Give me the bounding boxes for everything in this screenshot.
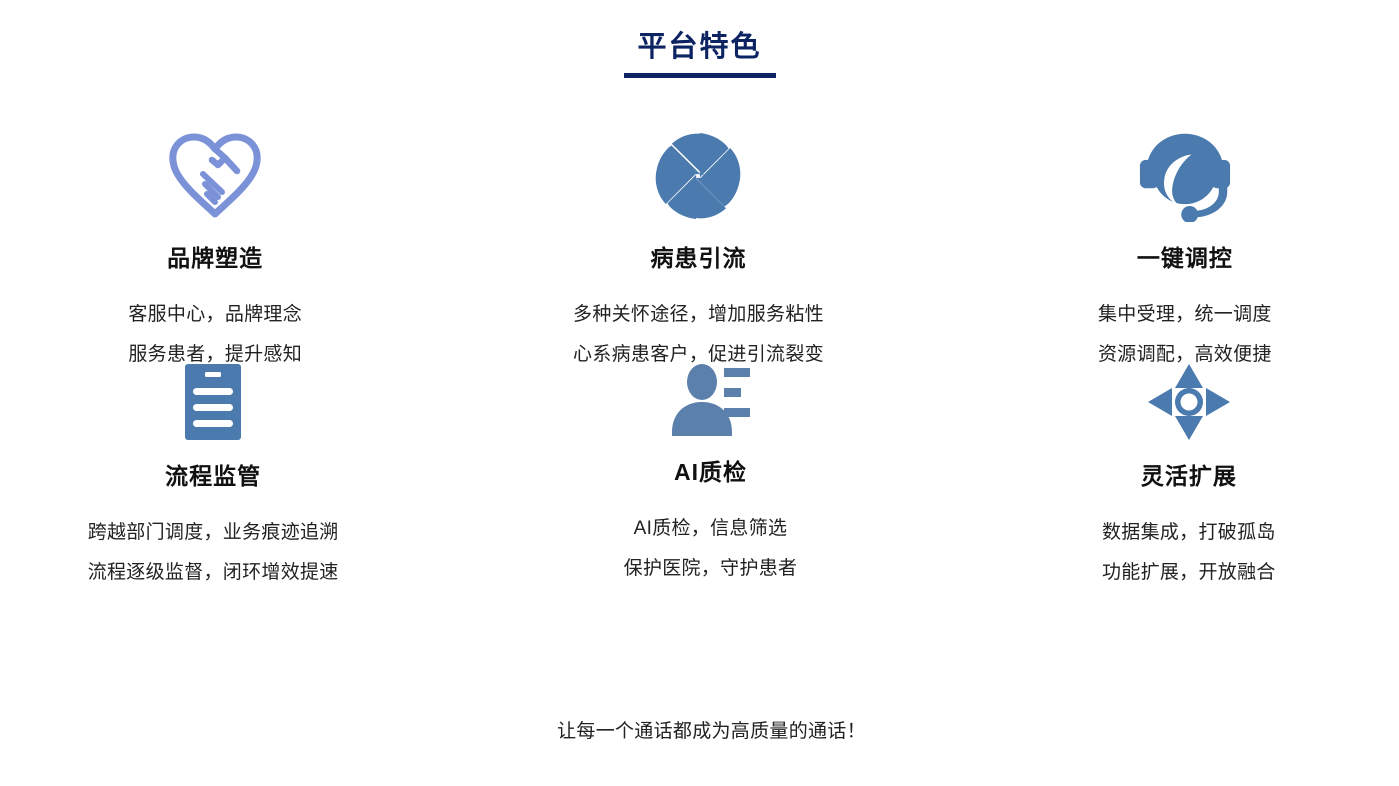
feature-description: AI质检，信息筛选 保护医院，守护患者: [624, 509, 798, 589]
page-title: 平台特色: [637, 30, 761, 65]
feature-desc-line-1: 集中受理，统一调度: [1098, 295, 1272, 335]
feature-card-flexible-expansion[interactable]: 灵活扩展 数据集成，打破孤岛 功能扩展，开放融合: [956, 362, 1399, 587]
feature-desc-line-1: 数据集成，打破孤岛: [1102, 513, 1276, 553]
feature-grid: 品牌塑造 客服中心，品牌理念 服务患者，提升感知: [0, 130, 1399, 587]
feature-desc-line-1: 跨越部门调度，业务痕迹追溯: [88, 513, 339, 553]
feature-description: 数据集成，打破孤岛 功能扩展，开放融合: [1102, 513, 1276, 593]
feature-desc-line-1: 多种关怀途径，增加服务粘性: [573, 295, 824, 335]
feature-title: AI质检: [674, 458, 747, 487]
feature-icon-wrapper: [1146, 362, 1232, 442]
feature-card-brand-building[interactable]: 品牌塑造 客服中心，品牌理念 服务患者，提升感知: [0, 130, 448, 362]
tagline: 让每一个通话都成为高质量的通话！: [0, 718, 1399, 746]
feature-desc-line-1: AI质检，信息筛选: [624, 509, 798, 549]
feature-icon-wrapper: [669, 362, 751, 438]
feature-title: 品牌塑造: [167, 244, 263, 273]
page-header: 平台特色: [0, 0, 1399, 78]
feature-title: 流程监管: [165, 462, 261, 491]
four-way-expand-icon: [1146, 362, 1232, 442]
title-underline: [624, 73, 776, 78]
feature-title: 一键调控: [1137, 244, 1233, 273]
feature-card-patient-acquisition[interactable]: 病患引流 多种关怀途径，增加服务粘性 心系病患客户，促进引流裂变: [465, 130, 931, 362]
feature-desc-line-1: 客服中心，品牌理念: [128, 295, 302, 335]
feature-title: 病患引流: [650, 244, 746, 273]
feature-icon-wrapper: [183, 362, 243, 442]
feature-description: 跨越部门调度，业务痕迹追溯 流程逐级监督，闭环增效提速: [88, 513, 339, 593]
feature-title: 灵活扩展: [1141, 462, 1237, 491]
feature-card-one-click-control[interactable]: 一键调控 集中受理，统一调度 资源调配，高效便捷: [952, 130, 1399, 362]
user-record-icon: [669, 362, 751, 438]
feature-icon-wrapper: [1138, 130, 1232, 222]
feature-icon-wrapper: [652, 130, 744, 222]
clipboard-document-icon: [183, 362, 243, 442]
feature-desc-line-2: 保护医院，守护患者: [624, 549, 798, 589]
feature-icon-wrapper: [165, 130, 265, 222]
feature-row-top: 品牌塑造 客服中心，品牌理念 服务患者，提升感知: [0, 130, 1399, 362]
handshake-heart-icon: [165, 130, 265, 222]
headset-support-icon: [1138, 130, 1232, 222]
feature-row-bottom: 流程监管 跨越部门调度，业务痕迹追溯 流程逐级监督，闭环增效提速: [0, 362, 1399, 587]
feature-card-ai-quality-inspection[interactable]: AI质检 AI质检，信息筛选 保护医院，守护患者: [477, 362, 943, 587]
feature-desc-line-2: 流程逐级监督，闭环增效提速: [88, 553, 339, 593]
feature-card-process-supervision[interactable]: 流程监管 跨越部门调度，业务痕迹追溯 流程逐级监督，闭环增效提速: [0, 362, 446, 587]
feature-desc-line-2: 功能扩展，开放融合: [1102, 553, 1276, 593]
tagline-text: 让每一个通话都成为高质量的通话！: [557, 718, 866, 746]
aperture-icon: [652, 130, 744, 222]
